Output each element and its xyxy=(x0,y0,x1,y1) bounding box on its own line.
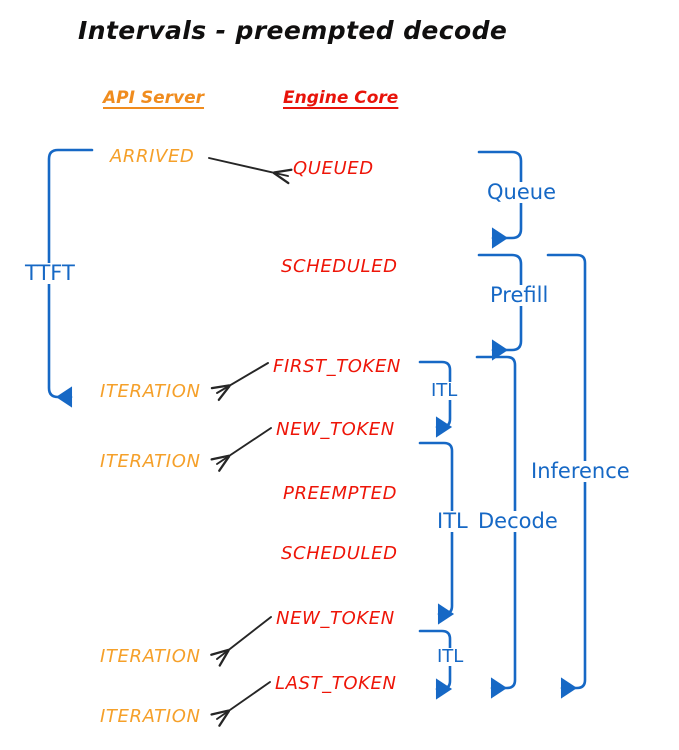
arrow-first-token-to-iteration xyxy=(217,363,268,393)
event-first-token: FIRST_TOKEN xyxy=(273,358,401,376)
event-new-token-1: NEW_TOKEN xyxy=(276,421,395,439)
event-iteration-1: ITERATION xyxy=(100,383,201,401)
arrow-new-token2-to-iteration xyxy=(217,617,271,659)
interval-label-itl-first: ITL xyxy=(428,382,460,400)
interval-label-prefill: Prefill xyxy=(487,285,551,306)
column-header-engine-core: Engine Core xyxy=(283,90,398,107)
column-header-api-server: API Server xyxy=(103,90,204,107)
event-arrived: ARRIVED xyxy=(110,148,194,166)
event-new-token-2: NEW_TOKEN xyxy=(276,610,395,628)
interval-label-ttft: TTFT xyxy=(22,263,78,284)
arrow-new-token-to-iteration xyxy=(217,428,271,464)
event-preempted: PREEMPTED xyxy=(283,485,397,503)
interval-label-queue: Queue xyxy=(484,182,559,203)
event-scheduled-1: SCHEDULED xyxy=(281,258,398,276)
arrow-arrived-to-queued xyxy=(209,158,288,176)
page-title: Intervals - preempted decode xyxy=(78,18,507,43)
interval-label-decode: Decode xyxy=(475,511,561,532)
event-scheduled-2: SCHEDULED xyxy=(281,545,398,563)
event-iteration-4: ITERATION xyxy=(100,708,201,726)
event-iteration-2: ITERATION xyxy=(100,453,201,471)
event-iteration-3: ITERATION xyxy=(100,648,201,666)
arrow-last-token-to-iteration xyxy=(217,682,270,719)
interval-label-itl-decode: ITL xyxy=(434,511,471,532)
interval-label-inference: Inference xyxy=(528,461,633,482)
event-queued: QUEUED xyxy=(293,160,374,178)
interval-label-itl-last: ITL xyxy=(434,648,466,666)
event-last-token: LAST_TOKEN xyxy=(275,675,397,693)
